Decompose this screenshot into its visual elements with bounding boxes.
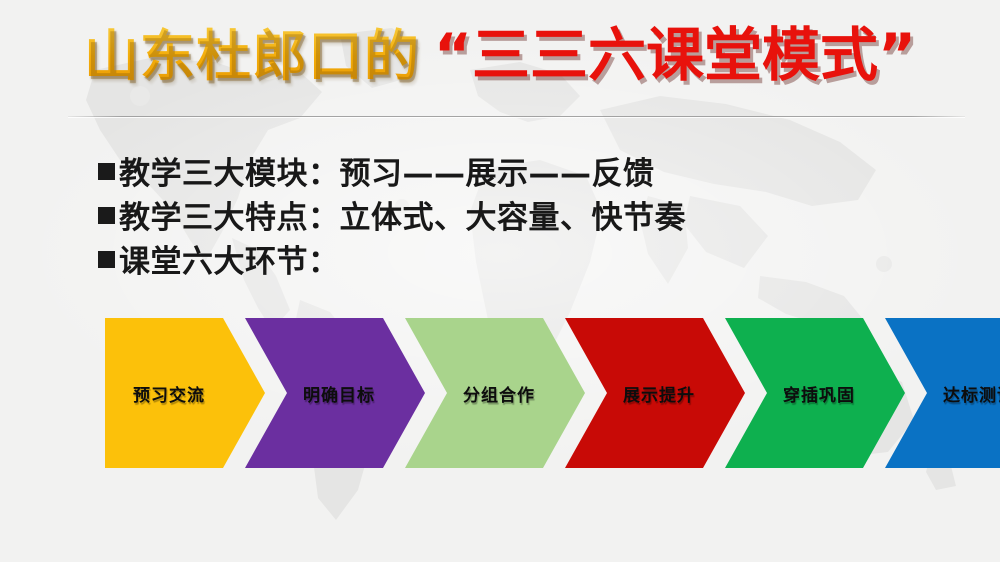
process-step-5: 穿插巩固 (725, 318, 905, 468)
bullet-text: 教学三大模块：预习——展示——反馈 (119, 148, 655, 193)
process-step-3: 分组合作 (405, 318, 585, 468)
square-bullet-icon (98, 163, 115, 180)
page-title: 山东杜郎口的“三三六课堂模式” (0, 26, 1000, 84)
process-step-4: 展示提升 (565, 318, 745, 468)
process-step-2: 明确目标 (245, 318, 425, 468)
list-item: 课堂六大环节： (98, 236, 958, 280)
bullet-text: 教学三大特点：立体式、大容量、快节奏 (119, 192, 686, 237)
process-step-label: 达标测评 (943, 381, 1000, 406)
bullet-list: 教学三大模块：预习——展示——反馈 教学三大特点：立体式、大容量、快节奏 课堂六… (98, 148, 958, 280)
process-step-label: 预习交流 (133, 381, 205, 406)
six-step-process-diagram: 预习交流 明确目标 分组合作 展示提升 穿插巩固 达标测评 (105, 318, 925, 468)
process-step-label: 分组合作 (463, 381, 535, 406)
title-divider (68, 116, 965, 117)
square-bullet-icon (98, 251, 115, 268)
process-step-label: 展示提升 (623, 381, 695, 406)
square-bullet-icon (98, 207, 115, 224)
process-step-1: 预习交流 (105, 318, 265, 468)
bullet-text: 课堂六大环节： (119, 236, 340, 281)
list-item: 教学三大特点：立体式、大容量、快节奏 (98, 192, 958, 236)
process-step-label: 明确目标 (303, 381, 375, 406)
list-item: 教学三大模块：预习——展示——反馈 (98, 148, 958, 192)
title-gold-text: 山东杜郎口的 (84, 24, 420, 88)
process-step-label: 穿插巩固 (783, 381, 855, 406)
title-red-text: “三三六课堂模式” (434, 21, 916, 89)
presentation-slide: 山东杜郎口的“三三六课堂模式” 教学三大模块：预习——展示——反馈 教学三大特点… (0, 0, 1000, 562)
